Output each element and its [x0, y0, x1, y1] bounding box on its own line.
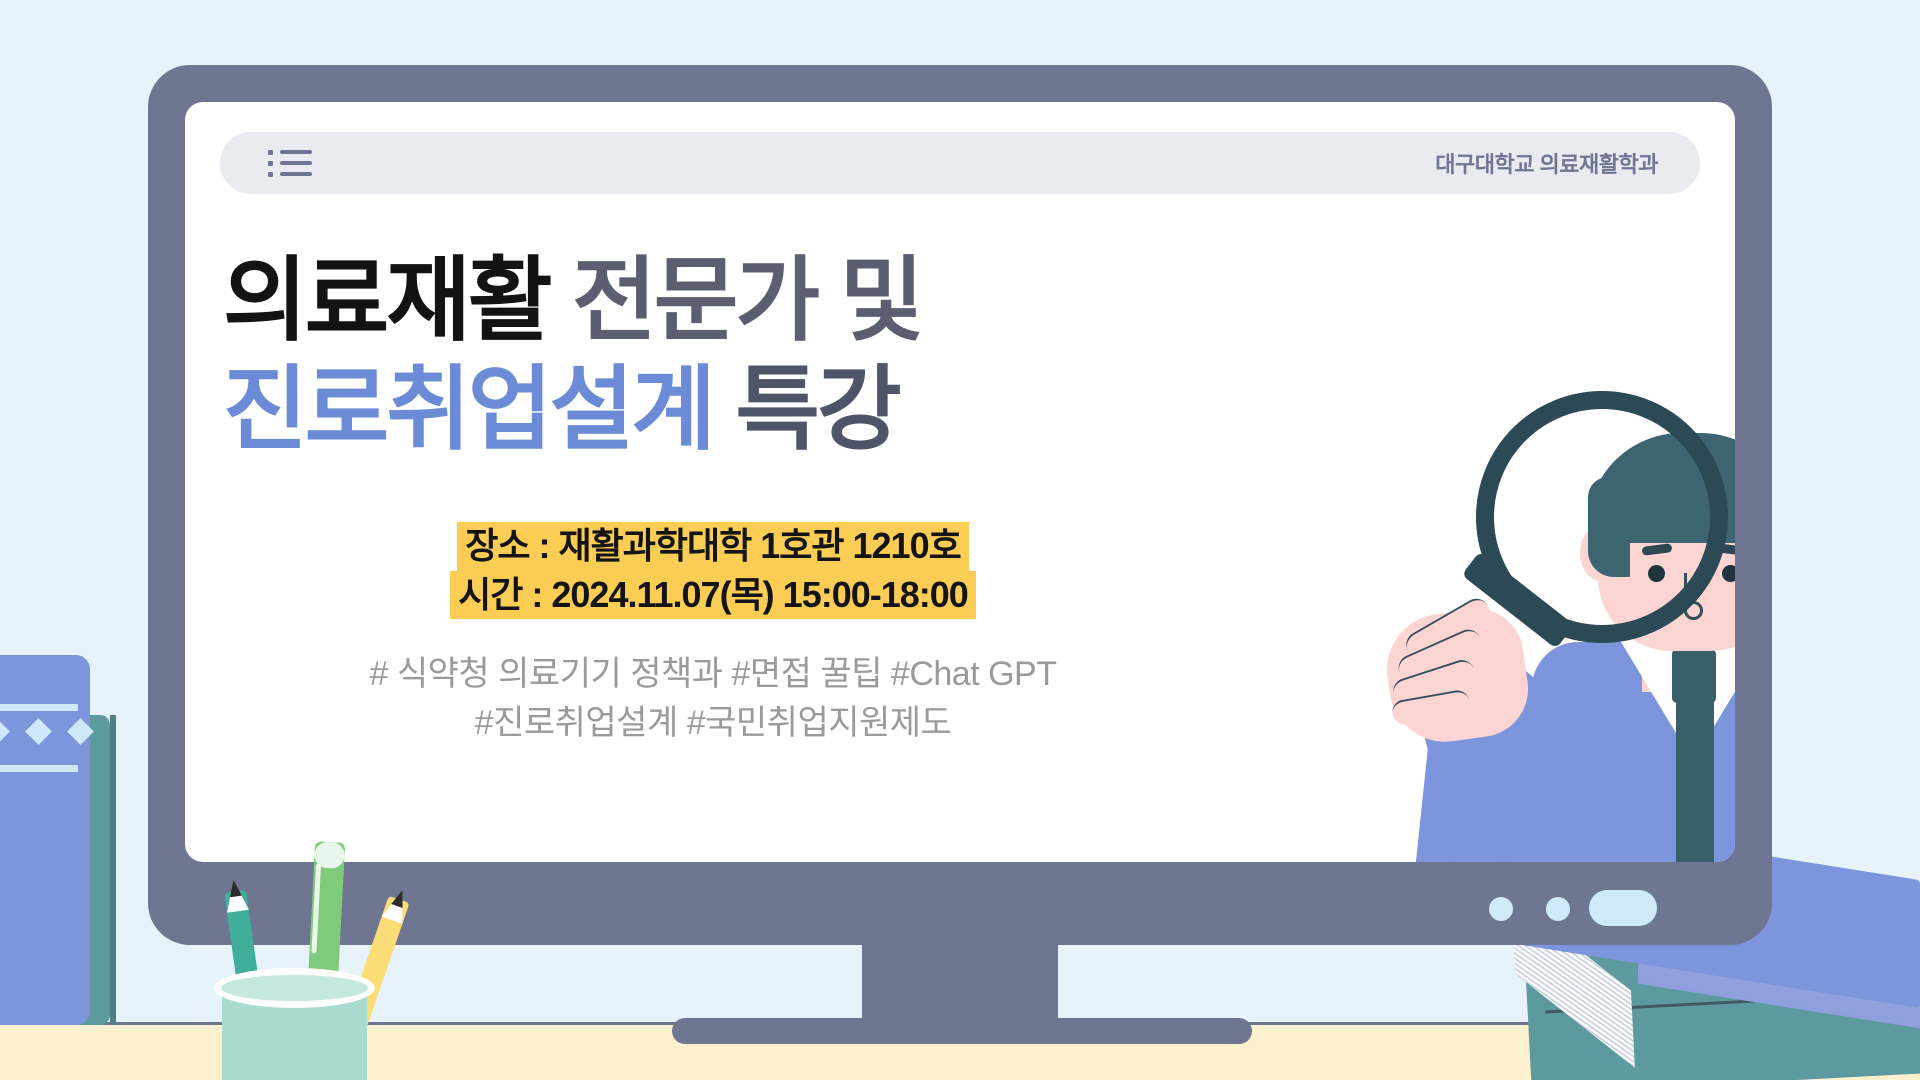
headline-line-2: 진로취업설계 특강 — [223, 356, 1183, 465]
tie-body — [1676, 697, 1714, 862]
headline-emphasis-1: 의료재활 — [223, 250, 550, 352]
headline-rest-2: 특강 — [735, 359, 898, 461]
event-place: 장소 : 재활과학대학 1호관 1210호 — [457, 522, 968, 571]
eye-right — [1722, 565, 1735, 582]
headline-line-1: 의료재활 전문가 및 — [223, 247, 1183, 356]
monitor-base — [672, 1018, 1252, 1044]
event-time: 시간 : 2024.11.07(목) 15:00-18:00 — [450, 571, 976, 620]
power-indicator-dot[interactable] — [1489, 897, 1513, 921]
list-bullets-icon[interactable] — [268, 150, 312, 177]
screen-toolbar: 대구대학교 의료재활학과 — [220, 132, 1700, 194]
man-with-magnifying-glass-illustration — [1380, 397, 1735, 862]
event-info: 장소 : 재활과학대학 1호관 1210호 시간 : 2024.11.07(목)… — [223, 522, 1203, 619]
magnifying-glass-icon — [1476, 391, 1728, 643]
headline-rest-1: 전문가 및 — [572, 250, 921, 352]
hashtag-line-2: #진로취업설계 #국민취업지원제도 — [223, 699, 1203, 748]
poster-headline: 의료재활 전문가 및 진로취업설계 특강 — [223, 247, 1183, 464]
headline-emphasis-2: 진로취업설계 — [223, 359, 713, 461]
book-stripe-bottom — [0, 765, 78, 772]
pencil-cup-rim — [214, 968, 375, 1008]
monitor-control-pill[interactable] — [1589, 890, 1657, 926]
hashtag-block: # 식약청 의료기기 정책과 #면접 꿀팁 #Chat GPT #진로취업설계 … — [223, 650, 1203, 749]
tie-knot — [1672, 649, 1716, 703]
book-stripe-top — [0, 704, 78, 711]
secondary-indicator-dot[interactable] — [1546, 897, 1570, 921]
hashtag-line-1: # 식약청 의료기기 정책과 #면접 꿀팁 #Chat GPT — [223, 650, 1203, 699]
department-label: 대구대학교 의료재활학과 — [1435, 147, 1658, 179]
monitor-screen: 대구대학교 의료재활학과 의료재활 전문가 및 진로취업설계 특강 장소 : 재… — [185, 102, 1735, 862]
